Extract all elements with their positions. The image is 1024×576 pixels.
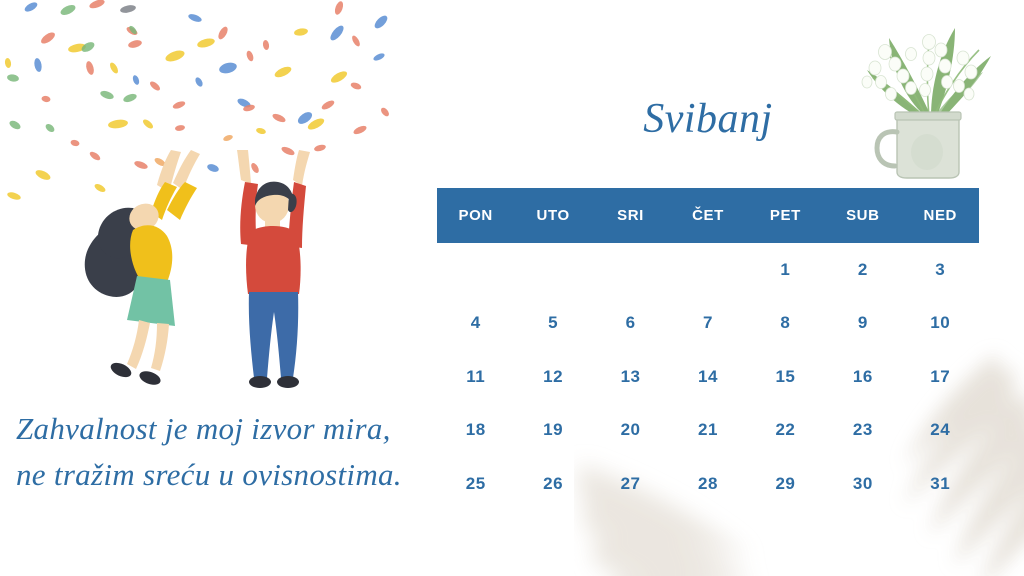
day-cell[interactable]: 21 [669,404,746,458]
day-cell[interactable]: 16 [824,350,901,404]
day-cell[interactable]: 5 [514,297,591,351]
quote-line-2: ne tražim sreću u ovisnostima. [16,452,476,498]
day-cell[interactable]: 19 [514,404,591,458]
calendar-table: PON UTO SRI ČET PET SUB NED 1 2 3 [437,188,979,511]
weekday-header-sub: SUB [824,188,901,243]
day-cell[interactable]: 11 [437,350,514,404]
day-cell[interactable]: 4 [437,297,514,351]
weekday-header-pon: PON [437,188,514,243]
day-cell[interactable]: 23 [824,404,901,458]
day-cell[interactable]: 28 [669,457,746,511]
calendar-week-row: 25 26 27 28 29 30 31 [437,457,979,511]
calendar-week-row: 18 19 20 21 22 23 24 [437,404,979,458]
calendar-week-row: 11 12 13 14 15 16 17 [437,350,979,404]
day-cell[interactable]: 6 [592,297,669,351]
day-cell[interactable] [669,243,746,297]
day-cell[interactable] [514,243,591,297]
day-cell[interactable]: 7 [669,297,746,351]
calendar-page: Svibanj PON UTO SRI ČET PET SUB NED [0,0,1024,576]
day-cell[interactable]: 3 [902,243,979,297]
day-cell[interactable]: 17 [902,350,979,404]
day-cell[interactable]: 10 [902,297,979,351]
day-cell[interactable]: 31 [902,457,979,511]
day-cell[interactable]: 12 [514,350,591,404]
day-cell[interactable]: 14 [669,350,746,404]
weekday-header-row: PON UTO SRI ČET PET SUB NED [437,188,979,243]
celebrating-people-illustration [45,150,355,415]
calendar-week-row: 4 5 6 7 8 9 10 [437,297,979,351]
day-cell[interactable]: 27 [592,457,669,511]
day-cell[interactable]: 8 [747,297,824,351]
day-cell[interactable]: 26 [514,457,591,511]
day-cell[interactable]: 20 [592,404,669,458]
weekday-header-cet: ČET [669,188,746,243]
quote-line-1: Zahvalnost je moj izvor mira, [16,406,476,452]
day-cell[interactable]: 29 [747,457,824,511]
day-cell[interactable]: 22 [747,404,824,458]
quote-text: Zahvalnost je moj izvor mira, ne tražim … [16,406,476,498]
month-title: Svibanj [437,93,979,145]
weekday-header-uto: UTO [514,188,591,243]
weekday-header-ned: NED [902,188,979,243]
weekday-header-pet: PET [747,188,824,243]
day-cell[interactable]: 9 [824,297,901,351]
day-cell[interactable]: 24 [902,404,979,458]
day-cell[interactable] [437,243,514,297]
day-cell[interactable] [592,243,669,297]
day-cell[interactable]: 1 [747,243,824,297]
calendar-week-row: 1 2 3 [437,243,979,297]
day-cell[interactable]: 15 [747,350,824,404]
day-cell[interactable]: 30 [824,457,901,511]
calendar-grid: PON UTO SRI ČET PET SUB NED 1 2 3 [437,188,979,511]
day-cell[interactable]: 2 [824,243,901,297]
confetti-illustration [0,0,420,230]
weekday-header-sri: SRI [592,188,669,243]
day-cell[interactable]: 13 [592,350,669,404]
